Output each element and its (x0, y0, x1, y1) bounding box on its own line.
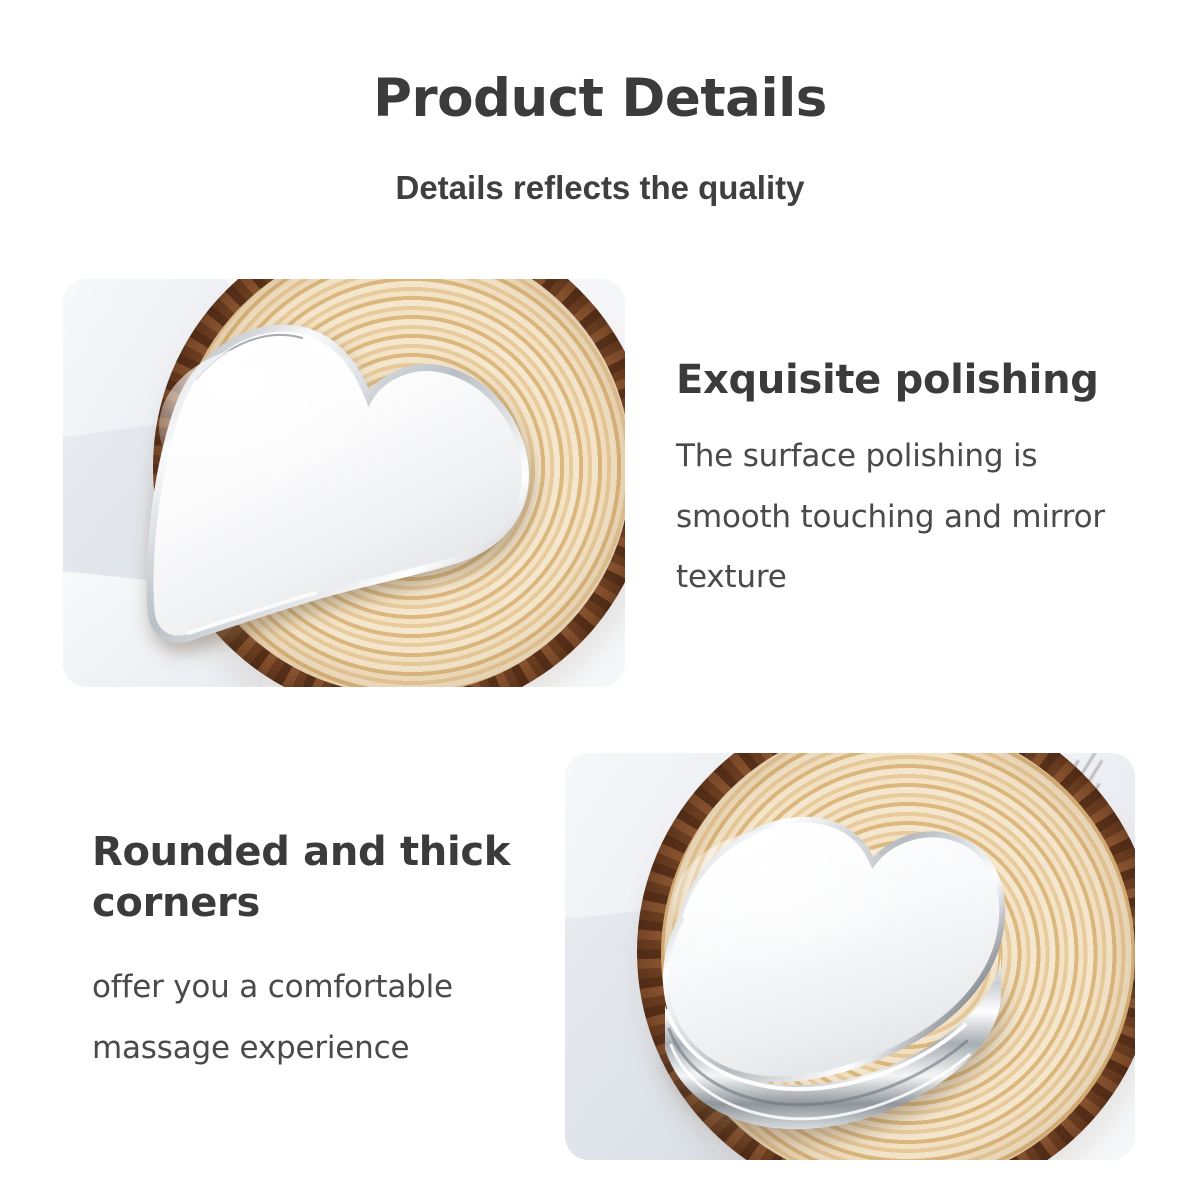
feature-text-rounded-thick-corners: Rounded and thick corners offer you a co… (92, 827, 562, 1078)
feature-body: offer you a comfortable massage experien… (92, 957, 562, 1078)
page-title: Product Details (0, 72, 1200, 125)
feature-image-rounded-thick-corners (565, 753, 1135, 1160)
page-subtitle: Details reflects the quality (0, 168, 1200, 208)
product-photo-scene (565, 753, 1135, 1160)
feature-heading: Rounded and thick corners (92, 827, 562, 929)
product-photo-scene (63, 279, 625, 687)
feature-body: The surface polishing is smooth touching… (676, 426, 1146, 607)
gua-sha-tool (129, 307, 581, 655)
feature-text-exquisite-polishing: Exquisite polishing The surface polishin… (676, 355, 1146, 608)
feature-heading: Exquisite polishing (676, 355, 1146, 406)
gua-sha-tool (621, 767, 1061, 1137)
feature-image-exquisite-polishing (63, 279, 625, 687)
